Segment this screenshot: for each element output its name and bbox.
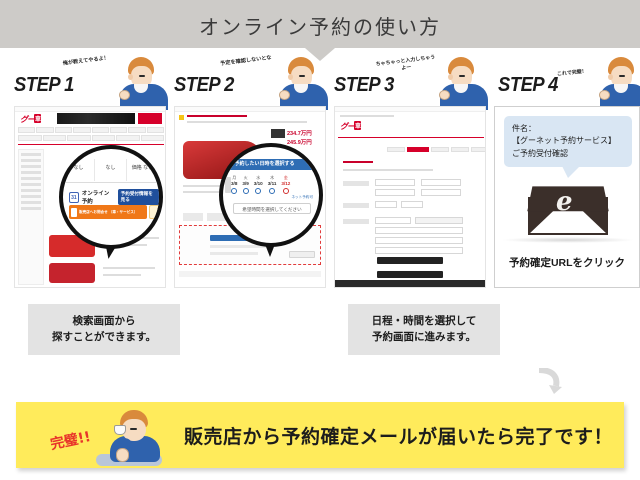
envelope-e-glyph: e: [556, 189, 573, 215]
step-1-caption-line-1: 検索画面から: [32, 313, 176, 329]
mail-subject-service: 【グーネット予約サービス】: [512, 135, 624, 147]
form-input-2b[interactable]: [421, 189, 461, 196]
magnifier-divider: [63, 182, 159, 183]
curved-arrow-icon: [536, 368, 562, 394]
contact-dealer-button[interactable]: 販売店へお問合せ （車・サービス）: [69, 205, 147, 219]
page-header: オンライン予約の使い方: [0, 0, 640, 48]
form-submit-button-2[interactable]: [377, 271, 443, 278]
step-3-label: STEP 3: [334, 74, 394, 97]
time-select-field[interactable]: 希望時間を選択してください: [233, 203, 311, 214]
divider-red: [338, 137, 484, 138]
character-hand: [599, 90, 610, 100]
date-circle-5: [283, 188, 289, 194]
step-2-screenshot: 234.7万円 245.9万円 カタログ: [174, 106, 326, 288]
dashed-block-title: [184, 229, 185, 233]
form-intro-line: [343, 169, 433, 171]
spec-col-1: なし: [63, 159, 95, 181]
character-ear: [608, 74, 613, 80]
character-eye: [299, 75, 305, 77]
online-reserve-row: 31 オンライン予約 予約受付情報を見る: [69, 189, 159, 205]
view-reservation-button[interactable]: 予約受付情報を見る: [118, 189, 159, 205]
mail-bubble-tail: [562, 166, 580, 178]
date-circle-2: [243, 188, 249, 194]
step-1: STEP 1 俺が教えてやるよ！ グー車: [14, 56, 166, 288]
step-3-header: STEP 3 ちゃちゃっと入力しちゃうよー: [334, 56, 486, 104]
search-sidebar: [18, 149, 44, 285]
character-hand: [439, 90, 450, 100]
step-1-magnifier: なし なし 価格 なし 31 オンライン予約 予約受付情報を見る 販売店へお問合…: [59, 145, 163, 249]
character-illustration: [112, 56, 170, 108]
magnifier-spec-columns: なし なし 価格 なし: [63, 159, 159, 181]
character-eye: [619, 75, 625, 77]
car-subtitle-line: [187, 121, 307, 123]
form-tab-5[interactable]: [471, 147, 486, 152]
character-hand: [279, 90, 290, 100]
date-num-5: 3/12: [281, 181, 290, 186]
form-submit-button-1[interactable]: [377, 257, 443, 264]
step-3-screenshot: グー車: [334, 106, 486, 288]
date-col-2[interactable]: 火 3/9: [242, 175, 248, 194]
date-col-3[interactable]: 水 3/10: [254, 175, 263, 194]
character-illustration: [592, 56, 640, 108]
form-input-zip[interactable]: [375, 217, 411, 224]
goonet-logo-mark: 車: [354, 121, 361, 130]
browser-topbar: [15, 107, 165, 112]
site-banner-red: [138, 113, 162, 124]
net-reservation-note: ネット予約可: [291, 195, 313, 200]
step-4: STEP 4 これで完璧！ 件名： 【グーネット予約サービス】 ご予約受付確認: [494, 56, 640, 288]
browser-topbar: [175, 107, 325, 112]
step-3-speech-bubble: ちゃちゃっと入力しちゃうよー: [375, 54, 436, 76]
dealer-phone-number: 0000-: [149, 205, 163, 219]
step-3: STEP 3 ちゃちゃっと入力しちゃうよー グー車: [334, 56, 486, 288]
date-col-5[interactable]: 金 3/12: [281, 175, 290, 194]
form-input-address-3[interactable]: [375, 247, 463, 254]
date-selection-grid: 月 3/8 火 3/9 水 3/10: [231, 175, 290, 194]
goonet-logo-mark: 車: [34, 114, 41, 123]
mail-subject-bubble: 件名： 【グーネット予約サービス】 ご予約受付確認: [504, 116, 632, 167]
divider-red: [18, 144, 164, 145]
form-section-title: [343, 161, 373, 163]
dashed-block-line-2: [210, 252, 258, 255]
form-input-1b[interactable]: [421, 179, 461, 186]
form-tab-1[interactable]: [387, 147, 405, 152]
character-illustration: [272, 56, 330, 108]
car-thumbnail-2: [49, 263, 95, 283]
step-2: STEP 2 予定を確認しないとな 234.7万円: [174, 56, 326, 288]
coffee-cup-icon: [114, 425, 126, 435]
step-2-header: STEP 2 予定を確認しないとな: [174, 56, 326, 104]
character-ear: [288, 74, 293, 80]
step-1-label: STEP 1: [14, 74, 74, 97]
form-step-tabs: [387, 147, 486, 152]
step-2-magnifier: 3. 予約したい日時を選択する 月 3/8 火 3/9: [219, 143, 323, 247]
header-pointer-triangle: [305, 48, 335, 61]
character-ear: [448, 74, 453, 80]
date-circle-3: [255, 188, 261, 194]
bottom-banner: 完璧!! 販売店から予約確定メールが届いたら完了です！: [16, 402, 624, 468]
bottom-banner-text: 販売店から予約確定メールが届いたら完了です！: [184, 422, 613, 449]
form-tab-4[interactable]: [451, 147, 469, 152]
character-illustration: [432, 56, 490, 108]
email-envelope-icon: e: [528, 187, 608, 235]
nav-row-2: [18, 135, 164, 141]
step-4-mail-panel: 件名： 【グーネット予約サービス】 ご予約受付確認 e 予約確定URLをクリック: [494, 106, 640, 288]
form-label-1: [343, 181, 369, 186]
sitting-character-eye: [130, 428, 137, 430]
phone-icon: [71, 208, 77, 217]
tax-badge: [271, 129, 285, 138]
calendar-icon: 31: [69, 192, 79, 203]
footer-strip: [179, 271, 321, 277]
page-title: オンライン予約の使い方: [0, 11, 640, 40]
form-zip-search-button[interactable]: [415, 217, 463, 224]
goonet-logo: グー車: [20, 114, 41, 125]
price-2: 245.9万円: [287, 138, 312, 146]
mail-click-url-caption: 予約確定URLをクリック: [495, 255, 639, 270]
step-4-speech-bubble: これで完璧！: [548, 68, 596, 80]
date-num-1: 3/8: [231, 181, 237, 186]
character-eye: [139, 75, 145, 77]
step-2-caption-line-1: 日程・時間を選択して: [352, 313, 496, 329]
goonet-logo: グー車: [340, 121, 361, 132]
breadcrumb: [340, 115, 394, 117]
step-2-caption-line-2: 予約画面に進みます。: [352, 329, 496, 345]
online-reserve-label: オンライン予約: [82, 189, 115, 205]
form-tab-3[interactable]: [431, 147, 449, 152]
form-label-2: [343, 203, 369, 208]
character-ear: [128, 74, 133, 80]
form-label-3: [343, 219, 369, 224]
step-2-caption: 日程・時間を選択して 予約画面に進みます。: [348, 304, 500, 355]
spec-col-2: なし: [95, 159, 127, 181]
nav-row-1: [18, 127, 164, 133]
step-1-caption: 検索画面から 探すことができます。: [28, 304, 180, 355]
form-radio-group[interactable]: [375, 201, 397, 208]
sitting-character-illustration: [90, 408, 176, 466]
steps-container: STEP 1 俺が教えてやるよ！ グー車: [0, 56, 640, 386]
date-num-4: 3/11: [268, 181, 277, 186]
thumb-row-1: [183, 213, 203, 221]
character-hand: [119, 90, 130, 100]
thumbs-up-hand: [116, 448, 129, 462]
form-input-address-2[interactable]: [375, 237, 463, 244]
mail-subject-body: ご予約受付確認: [512, 148, 624, 160]
step-2-label: STEP 2: [174, 74, 234, 97]
character-eye: [459, 75, 465, 77]
listing-line-4: [103, 274, 141, 276]
car-title-line: [187, 115, 247, 117]
form-input-address-1[interactable]: [375, 227, 463, 234]
date-num-3: 3/10: [254, 181, 263, 186]
dashed-block-submit[interactable]: [289, 251, 315, 258]
price-1: 234.7万円: [287, 129, 312, 137]
browser-topbar: [335, 107, 485, 112]
step-4-header: STEP 4 これで完璧！: [494, 56, 640, 104]
date-num-2: 3/9: [242, 181, 248, 186]
date-circle-4: [269, 188, 275, 194]
envelope-shadow: [501, 237, 635, 243]
date-col-4[interactable]: 木 3/11: [268, 175, 277, 194]
mail-subject-label: 件名：: [512, 123, 624, 135]
form-tab-2-active[interactable]: [407, 147, 429, 152]
date-circle-1: [231, 188, 237, 194]
dealer-badge: [179, 115, 184, 120]
page-footer: [335, 280, 485, 287]
step-1-speech-bubble: 俺が教えてやるよ！: [58, 55, 115, 69]
step-1-header: STEP 1 俺が教えてやるよ！: [14, 56, 166, 104]
listing-line-3: [103, 267, 155, 269]
site-banner-ad: [57, 113, 135, 124]
date-col-1[interactable]: 月 3/8: [231, 175, 237, 194]
page-root: オンライン予約の使い方 STEP 1 俺が教えてやるよ！: [0, 0, 640, 480]
kanpeki-stamp: 完璧!!: [48, 426, 92, 454]
form-input-1a[interactable]: [375, 179, 415, 186]
spec-col-3: 価格 なし: [127, 159, 159, 181]
form-input-2a[interactable]: [375, 189, 415, 196]
step-1-caption-line-2: 探すことができます。: [32, 329, 176, 345]
contact-dealer-label: 販売店へお問合せ （車・サービス）: [79, 210, 138, 214]
datetime-section-title: 3. 予約したい日時を選択する: [223, 159, 319, 170]
form-radio-group-2[interactable]: [401, 201, 423, 208]
step-2-speech-bubble: 予定を確認しないとな: [218, 55, 275, 69]
step-1-screenshot: グー車 なし なし: [14, 106, 166, 288]
